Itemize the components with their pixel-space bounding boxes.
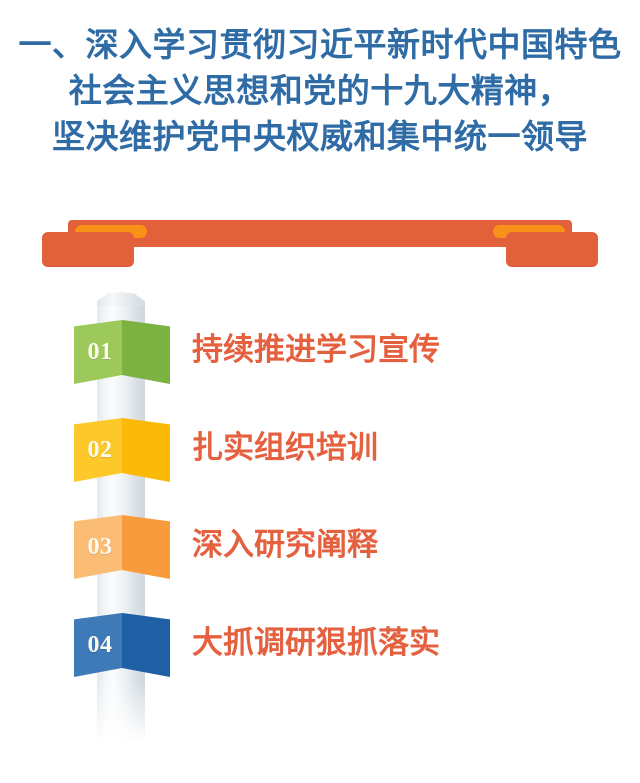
number-badge: 04 bbox=[74, 613, 170, 677]
list-item-label: 大抓调研狠抓落实 bbox=[192, 623, 440, 663]
badge-panel-right bbox=[122, 320, 170, 384]
title-line-3: 坚决维护党中央权威和集中统一领导 bbox=[0, 114, 640, 160]
badge-panel-right bbox=[122, 515, 170, 579]
list-item-label: 深入研究阐释 bbox=[192, 525, 378, 565]
title-line-2: 社会主义思想和党的十九大精神， bbox=[0, 68, 640, 114]
page-title: 一、深入学习贯彻习近平新时代中国特色 社会主义思想和党的十九大精神， 坚决维护党… bbox=[0, 22, 640, 160]
infographic-poster: 一、深入学习贯彻习近平新时代中国特色 社会主义思想和党的十九大精神， 坚决维护党… bbox=[0, 0, 640, 783]
decorative-banner bbox=[0, 200, 640, 280]
badge-number-text: 04 bbox=[74, 613, 122, 677]
title-line-1: 一、深入学习贯彻习近平新时代中国特色 bbox=[0, 22, 640, 68]
list-item-label: 扎实组织培训 bbox=[192, 428, 378, 468]
banner-cap-right bbox=[506, 232, 598, 266]
badge-number-text: 01 bbox=[74, 320, 122, 384]
list-item-label: 持续推进学习宣传 bbox=[192, 330, 440, 370]
number-badge: 02 bbox=[74, 418, 170, 482]
number-badge: 03 bbox=[74, 515, 170, 579]
badge-panel-right bbox=[122, 613, 170, 677]
number-badge: 01 bbox=[74, 320, 170, 384]
badge-number-text: 02 bbox=[74, 418, 122, 482]
badge-number-text: 03 bbox=[74, 515, 122, 579]
banner-cap-left bbox=[42, 232, 134, 266]
badge-panel-right bbox=[122, 418, 170, 482]
